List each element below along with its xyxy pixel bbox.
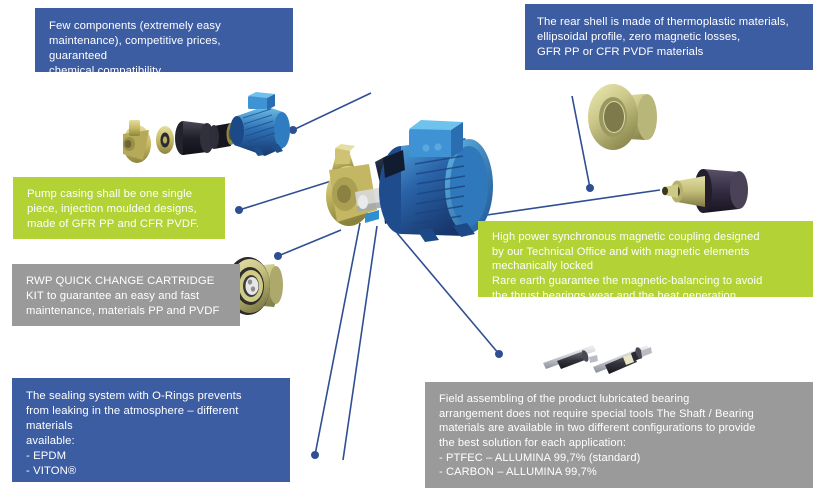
callout-few-components[interactable]: Few components (extremely easy maintenan…	[35, 8, 293, 72]
rear-shell-part-graphic	[583, 82, 675, 152]
diagram-canvas: Few components (extremely easy maintenan…	[0, 0, 813, 500]
terminal-box	[409, 120, 463, 158]
callout-rear-shell[interactable]: The rear shell is made of thermoplastic …	[525, 4, 813, 70]
callout-rwp-cartridge[interactable]: RWP QUICK CHANGE CARTRIDGE KIT to guaran…	[12, 264, 240, 326]
leader-dot-few-components	[290, 127, 296, 133]
shaft-bearing-parts-graphic	[541, 333, 659, 381]
leader-line-sealing-system	[315, 223, 360, 455]
leader-dot-pump-casing	[236, 207, 242, 213]
leader-dot-rear-shell	[587, 185, 593, 191]
callout-field-assembling[interactable]: Field assembling of the product lubricat…	[425, 382, 813, 488]
callout-pump-casing[interactable]: Pump casing shall be one single piece, i…	[13, 177, 225, 239]
exploded-rear-shell	[175, 121, 214, 155]
callout-magnetic-coupling[interactable]: High power synchronous magnetic coupling…	[478, 221, 813, 297]
exploded-assembly-graphic	[115, 82, 290, 182]
shaft-assembly-1	[543, 345, 598, 369]
magnet-coupling-part-graphic	[655, 163, 755, 219]
leader-dot-field-assembling	[496, 351, 502, 357]
shaft-assembly-2	[593, 345, 652, 374]
leader-line-sealing-system-b	[343, 226, 377, 460]
exploded-impeller	[156, 126, 174, 154]
exploded-brass-casing	[123, 120, 151, 163]
callout-sealing-system[interactable]: The sealing system with O-Rings prevents…	[12, 378, 290, 482]
exploded-motor	[230, 92, 290, 156]
motor-body	[379, 120, 493, 242]
leader-dot-sealing-system	[312, 452, 318, 458]
